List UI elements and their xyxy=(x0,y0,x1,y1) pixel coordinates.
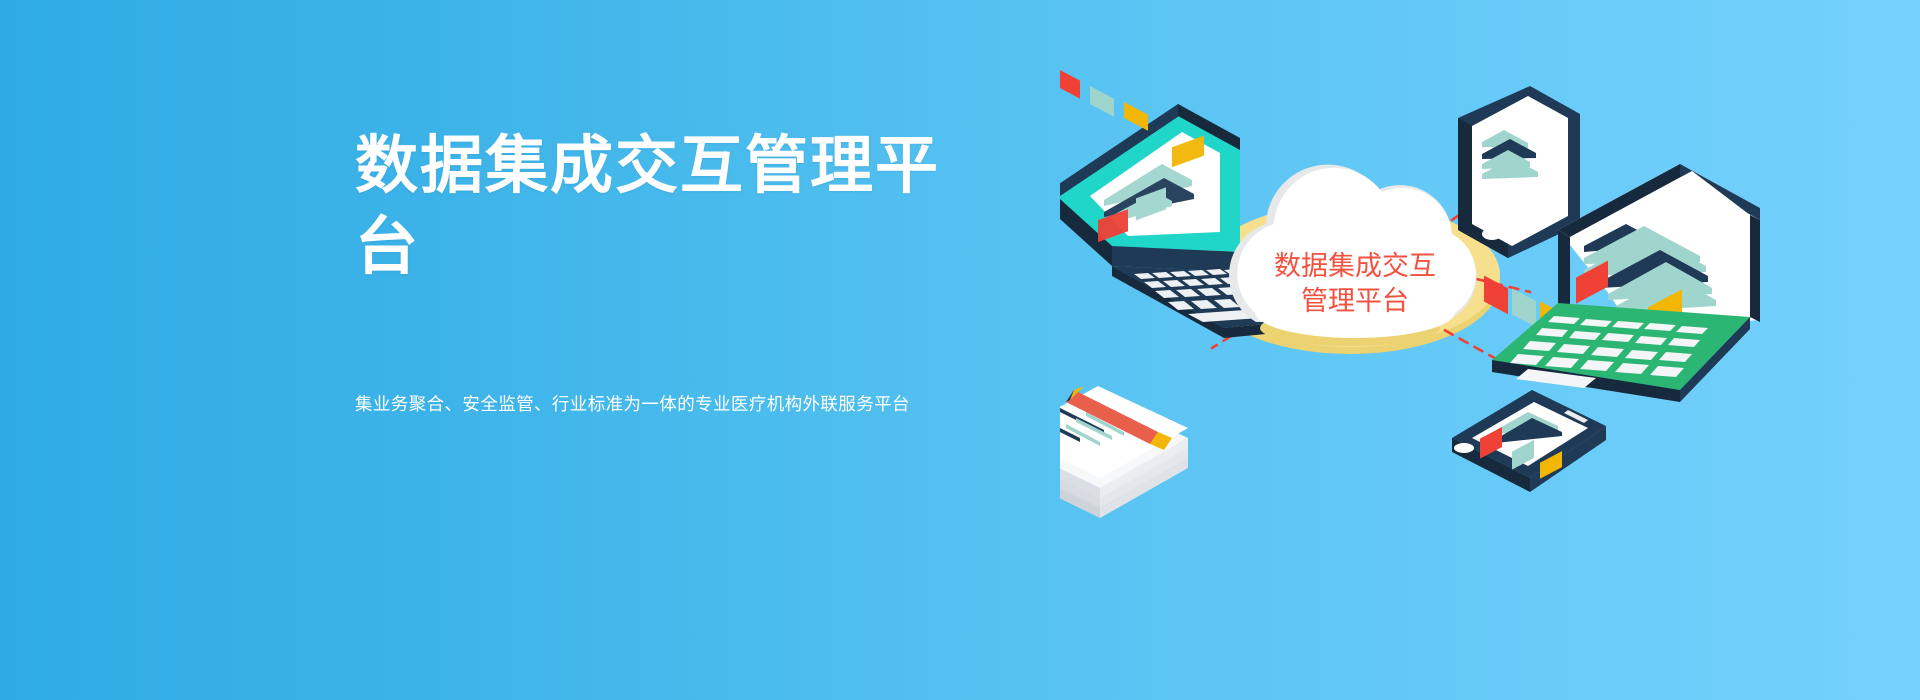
smartphone xyxy=(1452,390,1606,492)
hero-text-block: 数据集成交互管理平台 集业务聚合、安全监管、行业标准为一体的专业医疗机构外联服务… xyxy=(355,126,1055,287)
cloud: 数据集成交互 管理平台 xyxy=(1229,165,1477,346)
cloud-label-line2: 管理平台 xyxy=(1301,286,1409,316)
page-title: 数据集成交互管理平台 xyxy=(355,126,995,287)
page-subtitle: 集业务聚合、安全监管、行业标准为一体的专业医疗机构外联服务平台 xyxy=(355,391,910,416)
cloud-label-line1: 数据集成交互 xyxy=(1274,251,1436,281)
isometric-illustration: 数据集成交互 管理平台 xyxy=(1060,60,1860,620)
hero-banner: 数据集成交互管理平台 集业务聚合、安全监管、行业标准为一体的专业医疗机构外联服务… xyxy=(0,0,1920,700)
